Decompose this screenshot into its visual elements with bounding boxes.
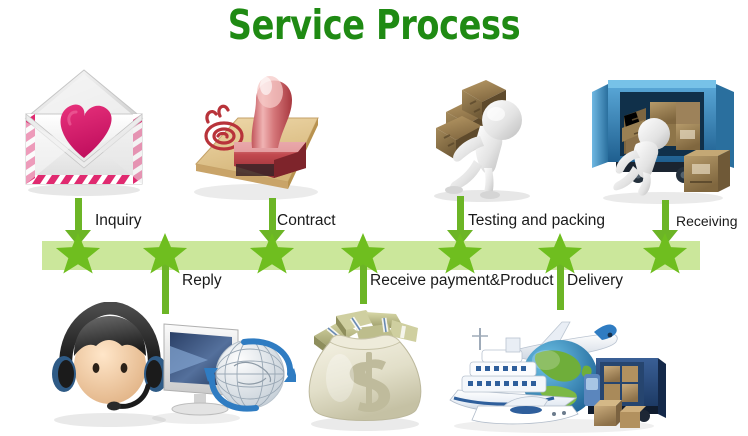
step-label-receive-payment: Receive payment&Product xyxy=(370,272,554,290)
step-label-contract: Contract xyxy=(277,212,336,230)
customer-support-icon xyxy=(48,302,296,434)
money-bag-icon xyxy=(300,298,430,434)
connector-stem-receiving xyxy=(662,200,669,234)
step-label-reply: Reply xyxy=(182,272,222,290)
step-label-delivery: Delivery xyxy=(567,272,623,290)
worker-carrying-boxes-icon xyxy=(418,68,548,208)
connector-stem-testing-packing xyxy=(457,196,464,234)
step-label-inquiry: Inquiry xyxy=(95,212,142,230)
connector-stem-contract xyxy=(269,198,276,234)
envelope-heart-icon xyxy=(14,62,154,202)
global-shipping-icon xyxy=(444,302,670,434)
step-label-receiving: Receiving xyxy=(676,212,737,230)
page-title: Service Process xyxy=(67,2,680,48)
service-process-infographic: Service Process xyxy=(0,0,748,436)
truck-unloading-icon xyxy=(588,72,738,207)
rubber-stamp-icon xyxy=(178,56,328,208)
step-label-testing-packing: Testing and packing xyxy=(468,212,605,230)
connector-stem-inquiry xyxy=(75,198,82,234)
